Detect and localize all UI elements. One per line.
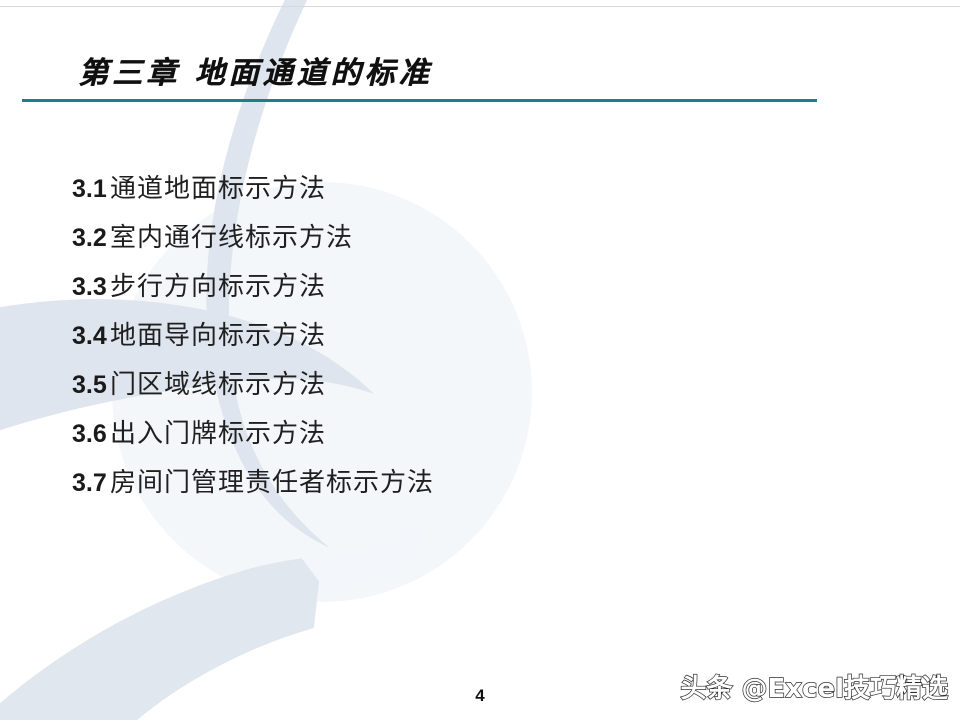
agenda-item-label: 地面导向标示方法 (110, 315, 326, 352)
agenda-item-label: 步行方向标示方法 (110, 266, 326, 303)
watermark-text: 头条 @Excel技巧精选 (680, 668, 948, 705)
agenda-item-number: 3.4 (0, 322, 110, 351)
agenda-item-label: 室内通行线标示方法 (110, 217, 353, 254)
agenda-list: 3.1 通道地面标示方法 3.2 室内通行线标示方法 3.3 步行方向标示方法 … (0, 168, 960, 511)
agenda-item-number: 3.2 (0, 224, 110, 253)
list-item[interactable]: 3.4 地面导向标示方法 (0, 315, 960, 364)
top-hairline (0, 6, 960, 7)
list-item[interactable]: 3.6 出入门牌标示方法 (0, 413, 960, 462)
list-item[interactable]: 3.7 房间门管理责任者标示方法 (0, 462, 960, 511)
list-item[interactable]: 3.2 室内通行线标示方法 (0, 217, 960, 266)
agenda-item-number: 3.1 (0, 175, 110, 204)
list-item[interactable]: 3.1 通道地面标示方法 (0, 168, 960, 217)
slide-canvas: 第三章 地面通道的标准 3.1 通道地面标示方法 3.2 室内通行线标示方法 3… (0, 0, 960, 720)
title-divider (22, 99, 817, 102)
agenda-item-number: 3.3 (0, 273, 110, 302)
agenda-item-number: 3.6 (0, 420, 110, 449)
agenda-item-label: 门区域线标示方法 (110, 364, 326, 401)
agenda-item-number: 3.7 (0, 469, 110, 498)
agenda-item-label: 出入门牌标示方法 (110, 413, 326, 450)
agenda-item-label: 通道地面标示方法 (110, 168, 326, 205)
page-title: 第三章 地面通道的标准 (78, 48, 432, 92)
agenda-item-label: 房间门管理责任者标示方法 (110, 462, 434, 499)
list-item[interactable]: 3.3 步行方向标示方法 (0, 266, 960, 315)
agenda-item-number: 3.5 (0, 371, 110, 400)
list-item[interactable]: 3.5 门区域线标示方法 (0, 364, 960, 413)
bottom-sliver-shape (300, 516, 434, 596)
